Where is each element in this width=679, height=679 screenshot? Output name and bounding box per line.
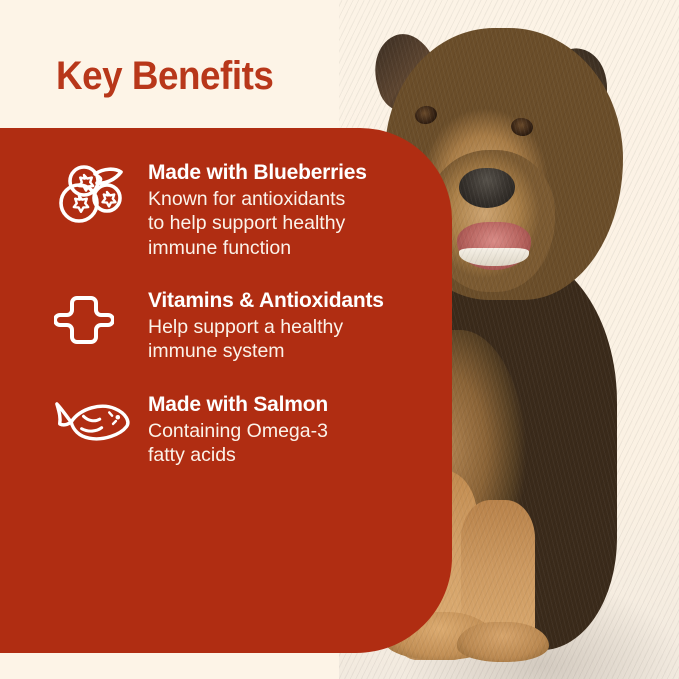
dog-paw-right (457, 622, 549, 662)
benefit-title-blueberries: Made with Blueberries (148, 160, 452, 186)
benefits-list: Made with Blueberries Known for antioxid… (0, 160, 452, 496)
benefit-title-salmon: Made with Salmon (148, 392, 452, 418)
blueberries-icon (54, 160, 134, 236)
benefit-item-blueberries: Made with Blueberries Known for antioxid… (0, 160, 452, 260)
page-title: Key Benefits (56, 54, 273, 99)
benefit-desc-salmon: Containing Omega-3 fatty acids (148, 419, 430, 468)
benefit-text-vitamins: Vitamins & Antioxidants Help support a h… (134, 288, 452, 364)
benefit-desc-blueberries: Known for antioxidants to help support h… (148, 187, 430, 261)
plus-cross-icon (54, 288, 134, 364)
dog-nose (459, 168, 515, 208)
benefit-desc-vitamins: Help support a healthy immune system (148, 315, 430, 364)
benefit-text-blueberries: Made with Blueberries Known for antioxid… (134, 160, 452, 260)
benefit-title-vitamins: Vitamins & Antioxidants (148, 288, 452, 314)
product-benefits-infographic: Key Benefits Made with Blu (0, 0, 679, 679)
benefit-item-salmon: Made with Salmon Containing Omega-3 fatt… (0, 392, 452, 468)
benefit-text-salmon: Made with Salmon Containing Omega-3 fatt… (134, 392, 452, 468)
benefit-item-vitamins: Vitamins & Antioxidants Help support a h… (0, 288, 452, 364)
salmon-fish-icon (54, 392, 134, 468)
